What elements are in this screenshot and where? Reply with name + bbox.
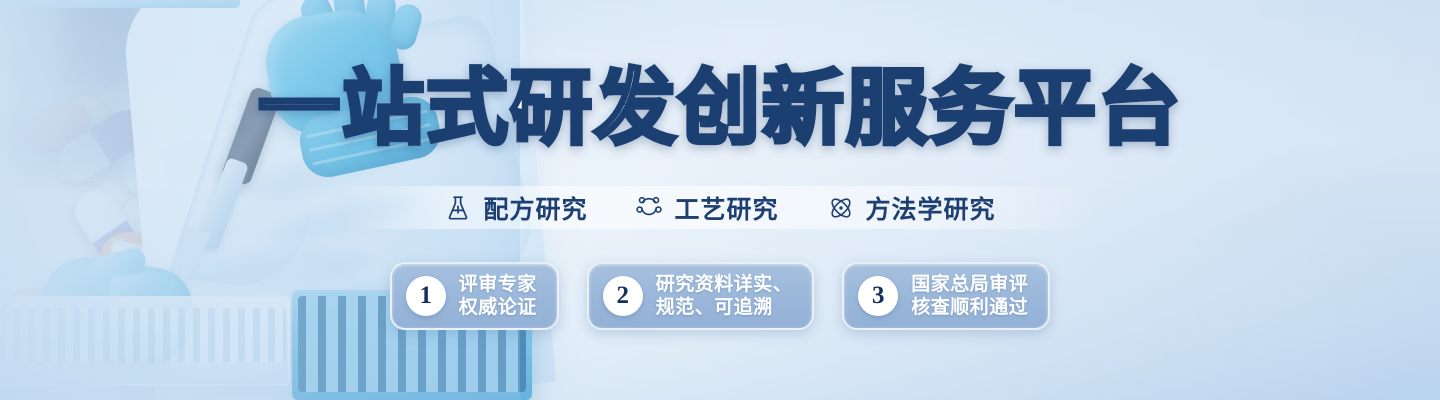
feature-number-badge: 1 [406, 276, 446, 316]
feature-box-list: 1 评审专家 权威论证 2 研究资料详实、 规范、可追溯 3 国家总局审评 核查… [0, 262, 1440, 330]
feature-number-badge: 3 [858, 276, 898, 316]
feature-line-2: 权威论证 [459, 296, 537, 319]
service-label: 方法学研究 [866, 190, 996, 226]
feature-number-badge: 2 [603, 276, 643, 316]
feature-line-2: 规范、可追溯 [656, 296, 793, 319]
service-item-formulation[interactable]: 配方研究 [444, 190, 587, 226]
feature-box-1[interactable]: 1 评审专家 权威论证 [390, 262, 559, 330]
feature-text: 国家总局审评 核查顺利通过 [911, 273, 1028, 319]
service-label: 配方研究 [483, 190, 587, 226]
promo-banner: 一站式研发创新服务平台 配方研究 [0, 0, 1440, 400]
service-item-methodology[interactable]: 方法学研究 [827, 190, 996, 226]
service-item-process[interactable]: 工艺研究 [635, 190, 778, 226]
feature-box-2[interactable]: 2 研究资料详实、 规范、可追溯 [587, 262, 815, 330]
feature-text: 评审专家 权威论证 [459, 273, 537, 319]
service-label: 工艺研究 [674, 190, 778, 226]
banner-content: 一站式研发创新服务平台 配方研究 [0, 0, 1440, 400]
banner-headline: 一站式研发创新服务平台 [0, 68, 1440, 150]
feature-line-1: 研究资料详实、 [656, 273, 793, 296]
feature-box-3[interactable]: 3 国家总局审评 核查顺利通过 [842, 262, 1050, 330]
molecule-icon [635, 194, 663, 222]
atom-icon [827, 194, 855, 222]
feature-line-1: 国家总局审评 [911, 273, 1028, 296]
feature-line-1: 评审专家 [459, 273, 537, 296]
feature-line-2: 核查顺利通过 [911, 296, 1028, 319]
feature-text: 研究资料详实、 规范、可追溯 [656, 273, 793, 319]
service-list: 配方研究 工艺研究 [0, 190, 1440, 226]
flask-icon [444, 194, 472, 222]
